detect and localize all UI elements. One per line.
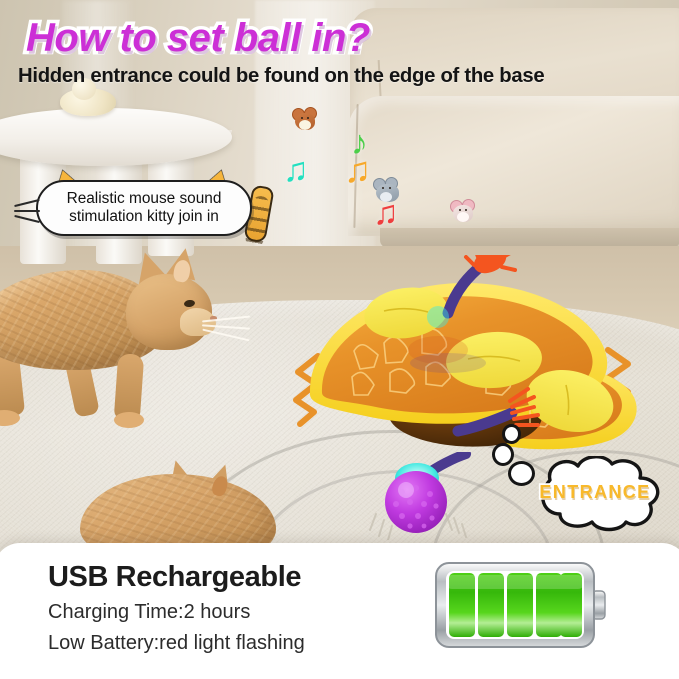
callout-text: Realistic mouse sound stimulation kitty … — [59, 190, 230, 226]
cat-walking — [0, 246, 256, 428]
page-subtitle: Hidden entrance could be found on the ed… — [18, 64, 544, 88]
ball-highlight — [398, 482, 414, 498]
mouse-belly — [299, 120, 311, 130]
battery-gloss — [446, 575, 584, 589]
cat-paw — [114, 412, 144, 428]
battery-icon — [432, 557, 608, 653]
led-glow-top — [427, 306, 449, 328]
spinning-ball-toy — [362, 452, 492, 540]
white-mouse-icon — [450, 200, 476, 222]
mouse-belly — [457, 212, 469, 222]
thought-dot-medium — [492, 443, 514, 466]
thought-dot-small — [502, 424, 521, 444]
page-title: How to set ball in? — [26, 16, 370, 61]
cat-leg-front-left — [114, 353, 145, 421]
product-marketing-image: ♫ ♪ ♫ ♫ — [0, 0, 679, 679]
entrance-label: ENTRANCE — [522, 482, 668, 503]
sofa-base — [380, 228, 679, 248]
cat-whisker — [202, 329, 249, 341]
callout-body: Realistic mouse sound stimulation kitty … — [36, 180, 252, 236]
brown-mouse-icon — [292, 108, 318, 130]
cat-paw — [0, 410, 20, 426]
whisker-icon — [14, 210, 40, 212]
cat-tunnel-mat — [298, 255, 650, 465]
music-note-icon: ♫ — [283, 153, 309, 187]
panel-title: USB Rechargeable — [48, 561, 301, 594]
charging-time-text: Charging Time:2 hours — [48, 601, 250, 624]
feature-callout: Realistic mouse sound stimulation kitty … — [36, 180, 252, 236]
callout-line-2: stimulation kitty join in — [69, 208, 219, 225]
music-note-icon: ♫ — [373, 196, 399, 230]
callout-line-1: Realistic mouse sound — [67, 190, 222, 207]
entrance-callout: ENTRANCE — [522, 456, 668, 532]
low-battery-text: Low Battery:red light flashing — [48, 632, 305, 655]
music-note-icon: ♫ — [344, 152, 371, 188]
